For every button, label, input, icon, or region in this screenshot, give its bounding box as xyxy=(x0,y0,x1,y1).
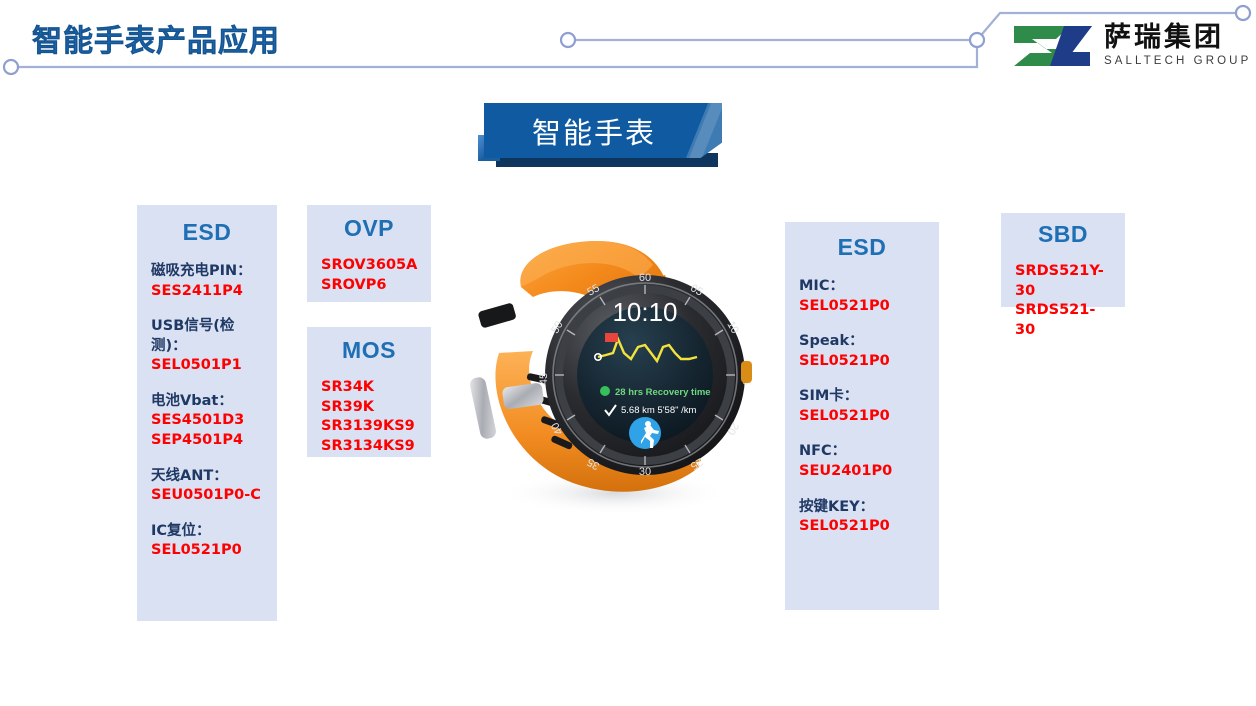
spec-label: 天线ANT： xyxy=(151,467,263,487)
spec-panel-mos: MOS SR34K SR39K SR3139KS9 SR3134KS9 xyxy=(307,327,431,457)
part-number: SR3139KS9 xyxy=(321,417,417,437)
panel-body: SRDS521Y-30 SRDS521-30 xyxy=(1015,262,1111,340)
spec-group: SRDS521Y-30 SRDS521-30 xyxy=(1015,262,1111,340)
spec-label: USB信号(检测)： xyxy=(151,317,263,356)
salltech-mark-icon xyxy=(1010,22,1094,70)
watch-recovery-text: 28 hrs Recovery time xyxy=(615,387,711,398)
spec-label: 按键KEY： xyxy=(799,498,925,518)
panel-title: SBD xyxy=(1015,221,1111,248)
part-number: SEU2401P0 xyxy=(799,462,925,482)
part-number: SEL0521P0 xyxy=(799,352,925,372)
panel-title: ESD xyxy=(799,234,925,261)
strap-keeper xyxy=(477,302,516,328)
spec-panel-esd-right: ESD MIC：SEL0521P0 Speak：SEL0521P0 SIM卡：S… xyxy=(785,222,939,610)
part-number: SROVP6 xyxy=(321,276,417,296)
slide-root: 智能手表产品应用 萨瑞集团 SALLTECH GROUP 智能手表 ESD 磁吸… xyxy=(0,0,1256,706)
part-number: SROV3605A xyxy=(321,256,417,276)
part-number: SEL0521P0 xyxy=(799,517,925,537)
spec-panel-esd-left: ESD 磁吸充电PIN：SES2411P4 USB信号(检测)：SEL0501P… xyxy=(137,205,277,621)
section-banner: 智能手表 xyxy=(478,103,728,173)
spec-label: IC复位： xyxy=(151,522,263,542)
spec-panel-ovp: OVP SROV3605A SROVP6 xyxy=(307,205,431,302)
spec-label: Speak： xyxy=(799,332,925,352)
spec-group: 按键KEY：SEL0521P0 xyxy=(799,498,925,537)
spec-group: 电池Vbat：SES4501D3SEP4501P4 xyxy=(151,392,263,451)
part-number: SEP4501P4 xyxy=(151,431,263,451)
watch-time: 10:10 xyxy=(612,297,677,327)
panel-body: SR34K SR39K SR3139KS9 SR3134KS9 xyxy=(321,378,417,456)
panel-body: SROV3605A SROVP6 xyxy=(321,256,417,295)
svg-text:60: 60 xyxy=(639,272,651,284)
banner-label: 智能手表 xyxy=(478,103,716,158)
panel-title: MOS xyxy=(321,337,417,364)
spec-label: 磁吸充电PIN： xyxy=(151,262,263,282)
spec-group: 磁吸充电PIN：SES2411P4 xyxy=(151,262,263,301)
part-number: SES2411P4 xyxy=(151,282,263,302)
part-number: SEL0521P0 xyxy=(799,297,925,317)
page-title: 智能手表产品应用 xyxy=(32,16,280,60)
part-number: SES4501D3 xyxy=(151,411,263,431)
part-number: SR39K xyxy=(321,398,417,418)
spec-group: Speak：SEL0521P0 xyxy=(799,332,925,371)
spec-label: NFC： xyxy=(799,442,925,462)
panel-title: OVP xyxy=(321,215,417,242)
spec-group: MIC：SEL0521P0 xyxy=(799,277,925,316)
part-number: SEL0521P0 xyxy=(151,541,263,561)
panel-body: 磁吸充电PIN：SES2411P4 USB信号(检测)：SEL0501P1 电池… xyxy=(151,262,263,561)
graph-flag-icon xyxy=(605,333,618,342)
spec-group: NFC：SEU2401P0 xyxy=(799,442,925,481)
part-number: SEL0501P1 xyxy=(151,356,263,376)
spec-group: USB信号(检测)：SEL0501P1 xyxy=(151,317,263,376)
part-number: SRDS521-30 xyxy=(1015,301,1111,340)
panel-title: ESD xyxy=(151,219,263,246)
watch-distance-text: 5.68 km 5'58" /km xyxy=(621,405,696,416)
svg-text:30: 30 xyxy=(639,466,651,478)
spec-group: 天线ANT：SEU0501P0-C xyxy=(151,467,263,506)
brand-name-cn: 萨瑞集团 xyxy=(1104,24,1251,51)
spec-group: SR34K SR39K SR3139KS9 SR3134KS9 xyxy=(321,378,417,456)
spec-group: SIM卡：SEL0521P0 xyxy=(799,387,925,426)
part-number: SEL0521P0 xyxy=(799,407,925,427)
smartwatch-image: 60 05 10 15 20 25 30 35 40 45 50 55 10:1… xyxy=(455,235,755,530)
spec-label: MIC： xyxy=(799,277,925,297)
brand-name-en: SALLTECH GROUP xyxy=(1104,56,1251,68)
spec-group: SROV3605A SROVP6 xyxy=(321,256,417,295)
spec-panel-sbd: SBD SRDS521Y-30 SRDS521-30 xyxy=(1001,213,1125,307)
watch-crown xyxy=(741,361,752,383)
part-number: SR34K xyxy=(321,378,417,398)
brand-logo: 萨瑞集团 SALLTECH GROUP xyxy=(1010,22,1251,70)
spec-group: IC复位：SEL0521P0 xyxy=(151,522,263,561)
part-number: SR3134KS9 xyxy=(321,437,417,457)
spec-label: SIM卡： xyxy=(799,387,925,407)
svg-text:45: 45 xyxy=(538,373,550,385)
recovery-icon xyxy=(600,386,610,396)
panel-body: MIC：SEL0521P0 Speak：SEL0521P0 SIM卡：SEL05… xyxy=(799,277,925,537)
spec-label: 电池Vbat： xyxy=(151,392,263,412)
part-number: SEU0501P0-C xyxy=(151,486,263,506)
part-number: SRDS521Y-30 xyxy=(1015,262,1111,301)
